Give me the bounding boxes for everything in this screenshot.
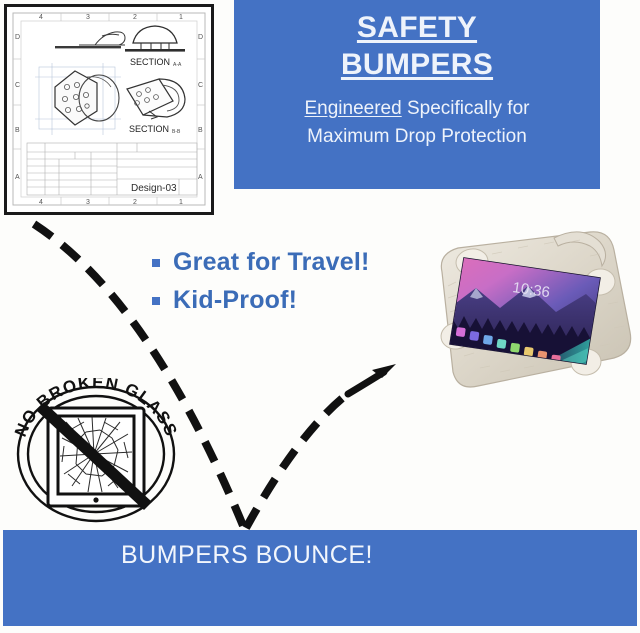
header-subtitle-underlined: Engineered — [305, 98, 402, 119]
header-subtitle-rest: Specifically for — [402, 98, 530, 119]
drawing-col-mark: 3 — [86, 199, 90, 206]
bounce-path-dashed-arrow — [246, 392, 350, 528]
drawing-section-suffix-2: B-B — [172, 129, 181, 135]
drawing-title-block-label: Design-03 — [131, 183, 177, 194]
no-broken-glass-badge: NO BROKEN GLASS — [8, 378, 186, 523]
technical-drawing-svg: 4 3 2 1 4 3 2 1 D C B A D C B A — [7, 7, 211, 212]
drawing-section-label-2: SECTION — [129, 124, 169, 134]
drawing-col-mark: 2 — [133, 199, 137, 206]
bullet-label: Kid-Proof! — [173, 286, 297, 315]
bounce-arrowhead-icon — [372, 364, 396, 378]
drawing-row-mark: A — [15, 174, 20, 181]
drawing-col-mark: 1 — [179, 199, 183, 206]
bullet-label: Great for Travel! — [173, 248, 370, 277]
drawing-col-mark: 3 — [86, 14, 90, 21]
technical-drawing-panel: 4 3 2 1 4 3 2 1 D C B A D C B A — [4, 4, 214, 215]
drawing-section-suffix-1: A-A — [173, 62, 182, 68]
product-photo-svg: 10:36 — [404, 216, 632, 424]
bounce-arrow-tail — [348, 372, 384, 394]
drawing-col-mark: 4 — [39, 199, 43, 206]
footer-text: BUMPERS BOUNCE! — [121, 541, 373, 570]
footer-banner: BUMPERS BOUNCE! — [3, 530, 637, 626]
drawing-row-mark: C — [15, 82, 20, 89]
poster-canvas: 4 3 2 1 4 3 2 1 D C B A D C B A — [0, 0, 640, 633]
drawing-col-mark: 4 — [39, 14, 43, 21]
square-bullet-icon — [152, 297, 160, 305]
drawing-row-mark: C — [198, 82, 203, 89]
drawing-row-mark: A — [198, 174, 203, 181]
drawing-row-mark: B — [15, 127, 20, 134]
drawing-row-mark: D — [198, 34, 203, 41]
drawing-row-mark: B — [198, 127, 203, 134]
drawing-col-mark: 1 — [179, 14, 183, 21]
product-photo: 10:36 — [404, 216, 632, 424]
no-broken-glass-icon: NO BROKEN GLASS — [8, 378, 186, 523]
drawing-section-label-1: SECTION — [130, 57, 170, 67]
header-title-line-2: BUMPERS — [341, 47, 493, 84]
drawing-side-base — [55, 46, 121, 48]
header-banner: SAFETY BUMPERS Engineered Specifically f… — [234, 0, 600, 189]
drawing-col-mark: 2 — [133, 14, 137, 21]
drawing-row-mark: D — [15, 34, 20, 41]
header-subtitle-line-2: Maximum Drop Protection — [305, 123, 530, 151]
header-title-line-1: SAFETY — [357, 10, 477, 47]
square-bullet-icon — [152, 259, 160, 267]
header-subtitle: Engineered Specifically for Maximum Drop… — [305, 95, 530, 150]
